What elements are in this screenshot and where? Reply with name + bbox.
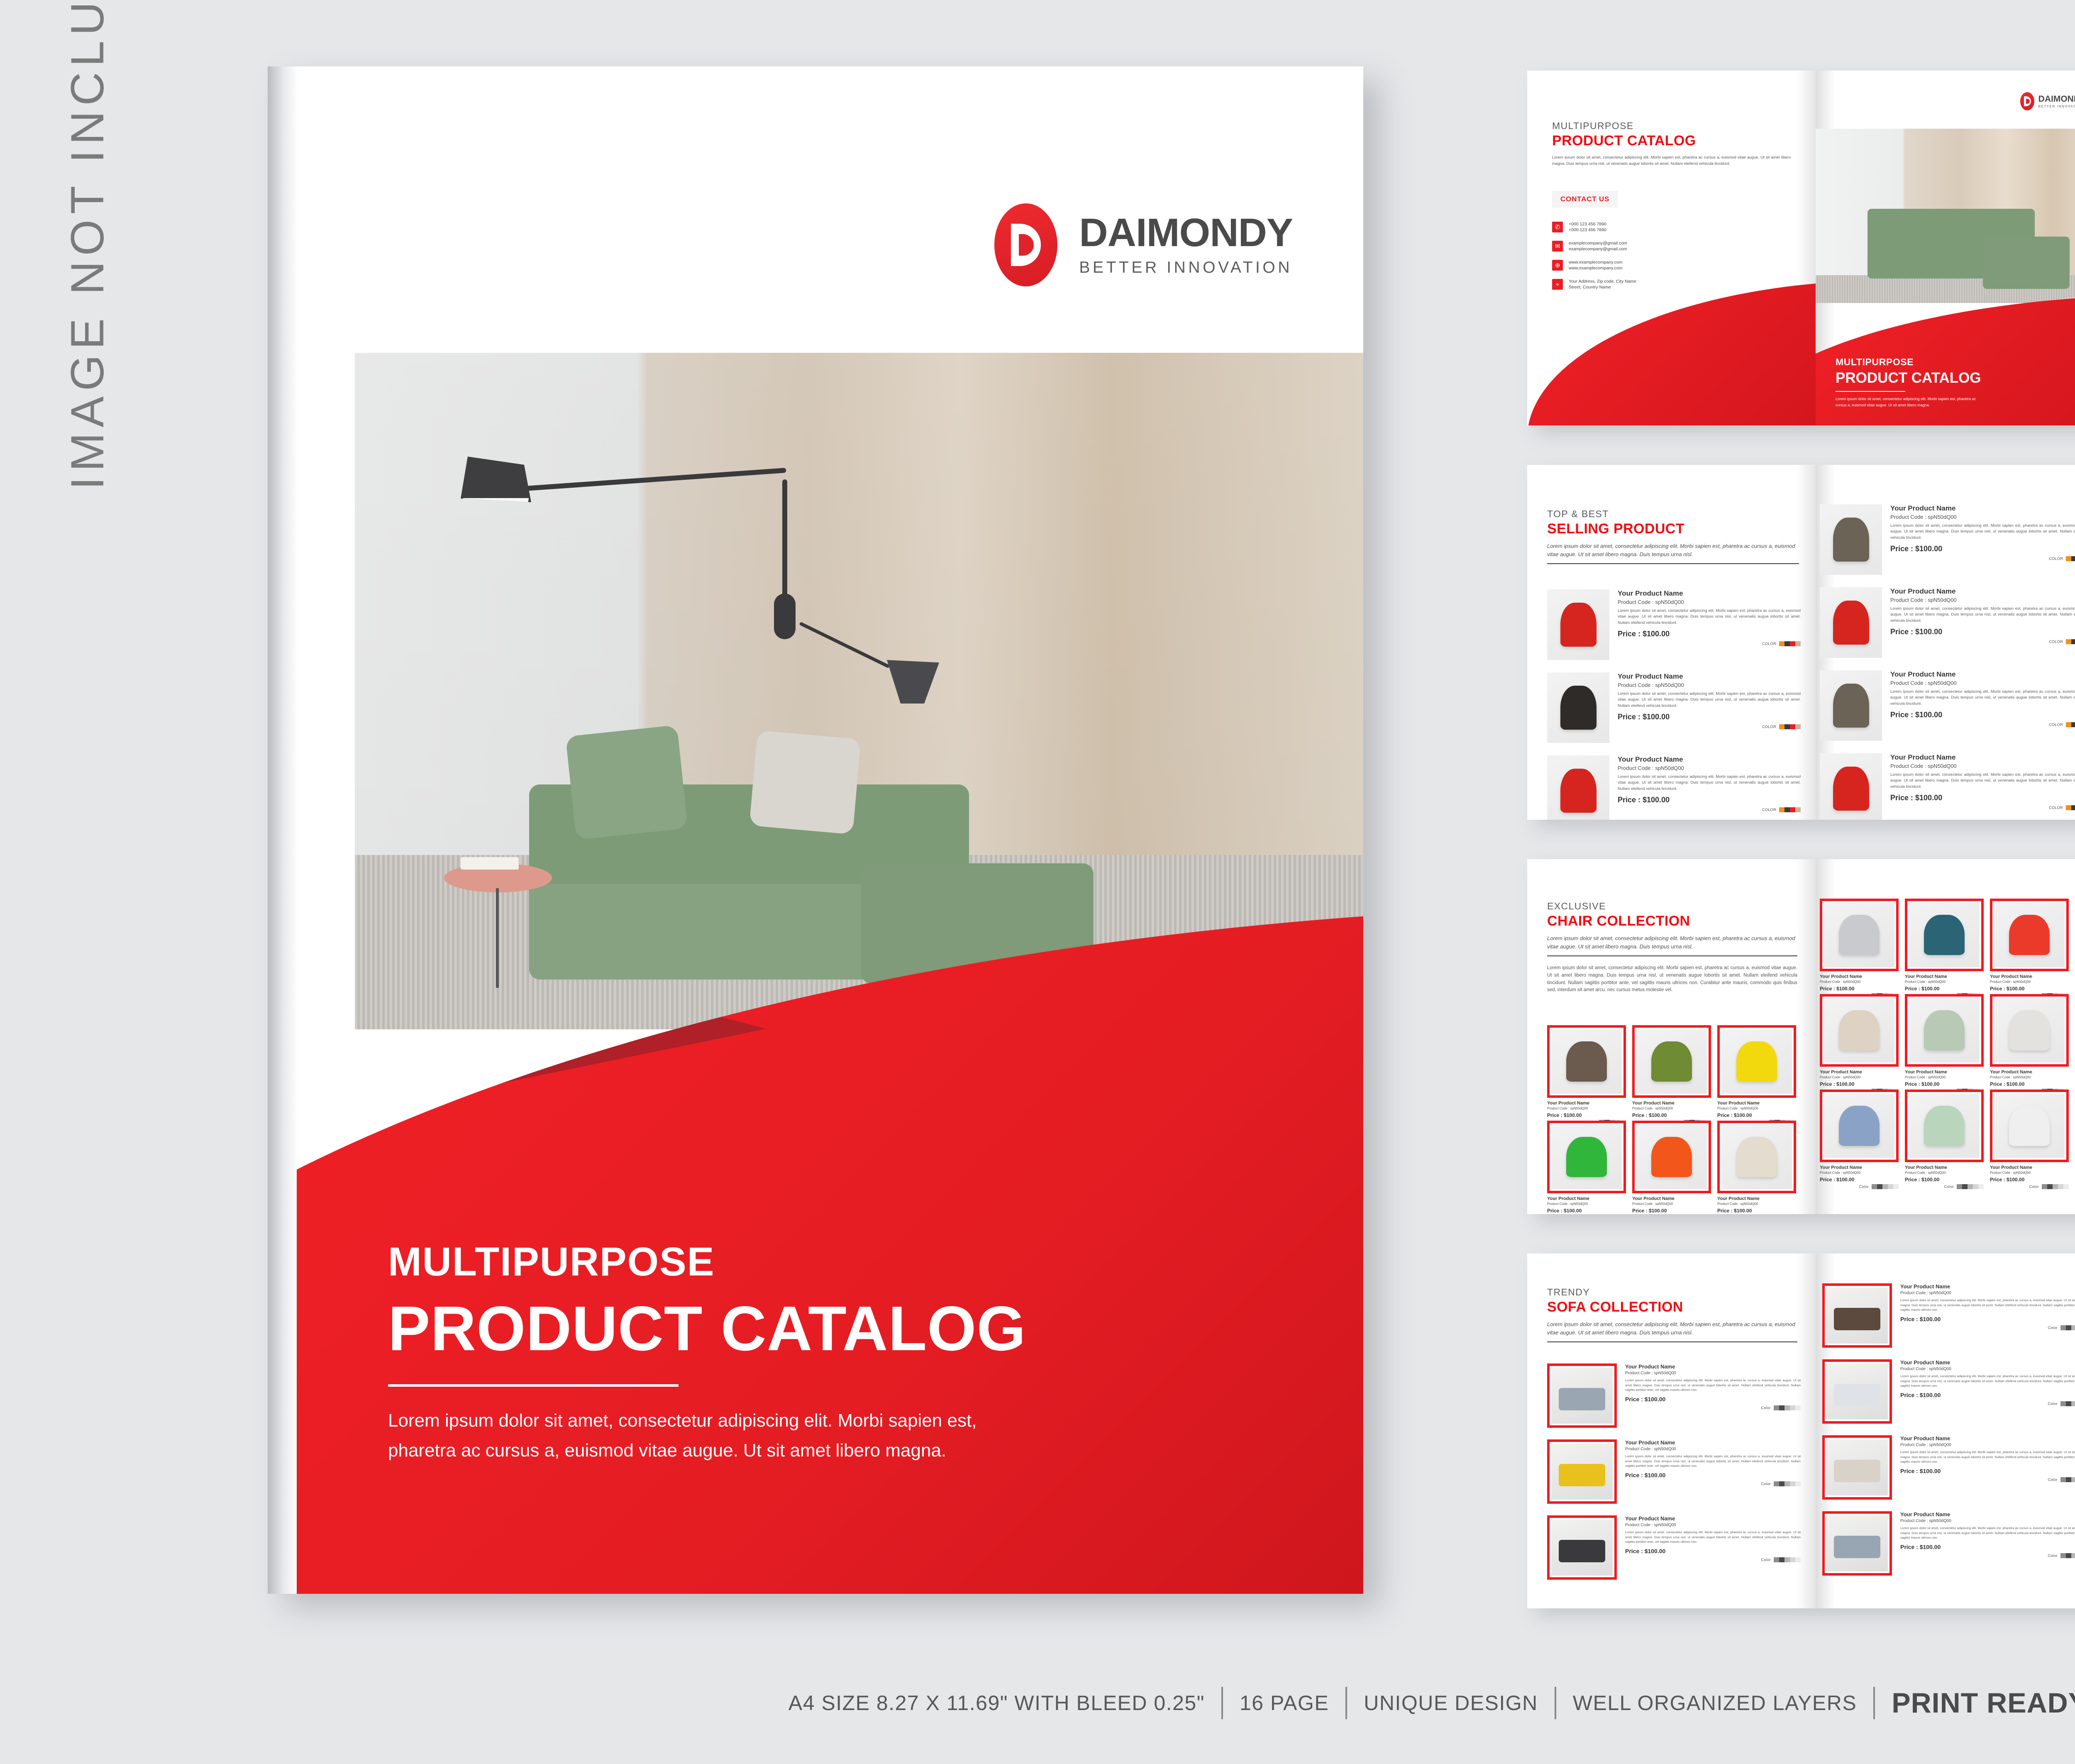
- color-swatch-row: COLOR: [1618, 807, 1801, 812]
- product-shape: [1994, 903, 2065, 967]
- image-not-included-label: IMAGE NOT INCLUDED: [50, 0, 124, 490]
- product-photo: [1822, 1359, 1892, 1424]
- product-meta: Your Product NameProduct Code : spN50dQ0…: [1905, 1165, 1984, 1189]
- color-swatch[interactable]: [1968, 1184, 1973, 1189]
- color-swatch-row: Color: [1900, 1325, 2075, 1330]
- color-label: COLOR: [1762, 725, 1776, 729]
- section-title: CHAIR COLLECTION: [1547, 913, 1797, 929]
- color-swatch[interactable]: [1882, 1184, 1888, 1189]
- logo-text: DAIMONDYBETTER INNOVATION: [2038, 95, 2075, 108]
- product-photo: [1990, 899, 2069, 971]
- product-row: Your Product NameProduct Code : spN50dQ0…: [1547, 589, 1801, 660]
- product-description: Lorem ipsum dolor sit amet, consectetur …: [1618, 691, 1801, 709]
- product-description: Lorem ipsum dolor sit amet, consectetur …: [1625, 1454, 1801, 1468]
- color-swatch-row: COLOR: [1890, 805, 2075, 810]
- color-label: COLOR: [2049, 723, 2063, 727]
- color-swatch[interactable]: [2066, 1401, 2071, 1406]
- color-swatches: [2066, 805, 2075, 810]
- photo-placeholder: [1826, 1439, 1888, 1495]
- page-title: PRODUCT CATALOG: [388, 1295, 1143, 1363]
- page-right[interactable]: Your Product NameProduct Code : spN50dQ0…: [1816, 465, 2075, 820]
- color-label: Color: [1761, 1406, 1771, 1410]
- color-swatch[interactable]: [1790, 641, 1795, 646]
- color-label: Color: [2048, 1554, 2058, 1558]
- spread-chair-collection[interactable]: EXCLUSIVECHAIR COLLECTIONLorem ipsum dol…: [1527, 859, 2075, 1214]
- product-card: Your Product NameProduct Code : spN50dQ0…: [1990, 994, 2069, 1094]
- color-swatch[interactable]: [1795, 724, 1801, 729]
- product-name: Your Product Name: [1900, 1435, 2075, 1441]
- product-price: Price : $100.00: [1547, 1208, 1626, 1214]
- product-description: Lorem ipsum dolor sit amet, consectetur …: [1890, 523, 2075, 541]
- color-swatch[interactable]: [2071, 1553, 2075, 1558]
- product-price: Price : $100.00: [1890, 711, 2075, 719]
- color-label: Color: [2048, 1402, 2058, 1406]
- product-price: Price : $100.00: [1890, 545, 2075, 553]
- product-code: Product Code : spN50dQ00: [1900, 1367, 2075, 1371]
- contact-text: examplecompany@gmail.comexamplecompany@g…: [1569, 241, 1627, 252]
- color-swatch[interactable]: [1784, 724, 1790, 729]
- photo-placeholder: [1994, 903, 2065, 967]
- product-name: Your Product Name: [1625, 1363, 1801, 1370]
- color-swatch[interactable]: [1779, 641, 1784, 646]
- product-photo: [1820, 994, 1899, 1067]
- color-swatch[interactable]: [2042, 1184, 2047, 1189]
- product-card: Your Product NameProduct Code : spN50dQ0…: [1905, 1090, 1984, 1189]
- product-photo: [1822, 1511, 1892, 1576]
- cover-subtitle: Lorem ipsum dolor sit amet, consectetur …: [1836, 396, 1985, 408]
- color-label: Color: [1944, 1185, 1954, 1189]
- color-swatch[interactable]: [2071, 1477, 2075, 1482]
- photo-placeholder: [1636, 1029, 1707, 1094]
- color-swatches: [1779, 724, 1801, 729]
- color-swatch[interactable]: [2066, 722, 2071, 727]
- section-kicker: TRENDY: [1547, 1287, 1797, 1298]
- color-swatches: [1779, 641, 1801, 646]
- section-header: TRENDYSOFA COLLECTIONLorem ipsum dolor s…: [1547, 1287, 1797, 1342]
- product-code: Product Code : spN50dQ00: [1900, 1443, 2075, 1447]
- color-swatch[interactable]: [2071, 722, 2075, 727]
- page-title: PRODUCT CATALOG: [1836, 370, 2075, 386]
- section-kicker: TOP & BEST: [1547, 508, 1799, 520]
- product-row: Your Product NameProduct Code : spN50dQ0…: [1822, 1283, 2075, 1348]
- location-pin-icon: ⌖: [1552, 279, 1563, 290]
- photo-placeholder: [1551, 1029, 1622, 1094]
- color-swatches: [1872, 1184, 1899, 1189]
- contact-row: ✆+000 123 456 7890+000 123 456 7890: [1552, 222, 1791, 232]
- color-swatch[interactable]: [2047, 1184, 2053, 1189]
- product-photo: [1547, 1121, 1626, 1193]
- product-shape: [1824, 998, 1894, 1063]
- product-row: Your Product NameProduct Code : spN50dQ0…: [1547, 672, 1801, 743]
- product-description: Lorem ipsum dolor sit amet, consectetur …: [1900, 1374, 2075, 1388]
- product-photo: [1820, 670, 1882, 741]
- product-code: Product Code : spN50dQ00: [1990, 1075, 2069, 1079]
- color-swatch[interactable]: [1877, 1184, 1882, 1189]
- product-price: Price : $100.00: [1820, 1081, 1899, 1087]
- contact-line-2: www.examplecompany.com: [1569, 266, 1622, 271]
- color-swatch[interactable]: [1872, 1184, 1877, 1189]
- color-swatch[interactable]: [2053, 1184, 2058, 1189]
- product-code: Product Code : spN50dQ00: [1905, 980, 1984, 984]
- footer-highlight: PRINT READY FILE: [1875, 1687, 2075, 1719]
- product-meta: Your Product NameProduct Code : spN50dQ0…: [1900, 1283, 2075, 1348]
- cover-hero-photo: [355, 353, 1363, 1029]
- contact-line-2: Street, Country Name: [1569, 285, 1636, 290]
- color-swatch[interactable]: [2066, 1553, 2071, 1558]
- color-swatch[interactable]: [2060, 1401, 2066, 1406]
- brand-name: DAIMONDY: [1079, 213, 1293, 253]
- color-swatches: [1957, 1184, 1984, 1189]
- product-code: Product Code : spN50dQ00: [1618, 765, 1801, 771]
- cover-spine: [268, 66, 297, 1594]
- color-swatches: [2066, 722, 2075, 727]
- contact-text: www.examplecompany.comwww.examplecompany…: [1569, 260, 1622, 271]
- color-swatch[interactable]: [1784, 1557, 1790, 1562]
- color-swatch-row: Color: [1625, 1481, 1801, 1486]
- spread-selling-product[interactable]: TOP & BESTSELLING PRODUCTLorem ipsum dol…: [1527, 465, 2075, 820]
- product-shape: [1551, 1029, 1622, 1094]
- color-swatch[interactable]: [2071, 639, 2075, 644]
- product-name: Your Product Name: [1905, 974, 1984, 979]
- product-photo: [1905, 899, 1984, 971]
- poster-canvas: IMAGE NOT INCLUDED DAIMONDY BETTER INNOV…: [0, 0, 2075, 1764]
- product-code: Product Code : spN50dQ00: [1618, 682, 1801, 688]
- color-swatches: [1774, 1481, 1801, 1486]
- product-shape: [1551, 1125, 1622, 1189]
- product-price: Price : $100.00: [1990, 986, 2069, 992]
- contact-line-1: www.examplecompany.com: [1569, 260, 1622, 265]
- product-price: Price : $100.00: [1632, 1208, 1711, 1214]
- product-price: Price : $100.00: [1618, 713, 1801, 721]
- page-left[interactable]: MULTIPURPOSEPRODUCT CATALOGLorem ipsum d…: [1527, 71, 1816, 425]
- product-meta: Your Product NameProduct Code : spN50dQ0…: [1890, 753, 2075, 810]
- contact-page-content: MULTIPURPOSEPRODUCT CATALOGLorem ipsum d…: [1552, 120, 1791, 290]
- product-meta: Your Product NameProduct Code : spN50dQ0…: [1900, 1435, 2075, 1500]
- color-swatch[interactable]: [2066, 556, 2071, 561]
- color-swatch[interactable]: [1795, 1557, 1801, 1562]
- color-swatch[interactable]: [1779, 1405, 1784, 1410]
- color-swatch[interactable]: [2066, 639, 2071, 644]
- footer-item-0: A4 SIZE 8.27 X 11.69" WITH BLEED 0.25": [772, 1691, 1221, 1715]
- contact-row: ⌖Your Address, Zip code, City NameStreet…: [1552, 279, 1791, 290]
- product-name: Your Product Name: [1900, 1283, 2075, 1290]
- product-photo: [1820, 899, 1899, 971]
- color-swatch[interactable]: [1790, 1557, 1795, 1562]
- photo-placeholder: [1551, 1125, 1622, 1189]
- section-title: PRODUCT CATALOG: [1552, 133, 1791, 149]
- logo-d-icon: [994, 203, 1057, 286]
- product-photo: [1905, 1090, 1984, 1162]
- page-right[interactable]: Your Product NameProduct Code : spN50dQ0…: [1816, 1253, 2075, 1608]
- product-price: Price : $100.00: [1618, 796, 1801, 804]
- product-card: Your Product NameProduct Code : spN50dQ0…: [1547, 1121, 1626, 1214]
- color-swatch[interactable]: [2066, 1325, 2071, 1330]
- page-left[interactable]: TOP & BESTSELLING PRODUCTLorem ipsum dol…: [1527, 465, 1816, 820]
- color-label: Color: [1859, 1185, 1869, 1189]
- product-code: Product Code : spN50dQ00: [1900, 1519, 2075, 1523]
- product-meta: Your Product NameProduct Code : spN50dQ0…: [1900, 1511, 2075, 1576]
- cover-divider: [388, 1384, 679, 1387]
- page-right[interactable]: Your Product NameProduct Code : spN50dQ0…: [1816, 859, 2075, 1214]
- color-swatch[interactable]: [2071, 1401, 2075, 1406]
- product-description: Lorem ipsum dolor sit amet, consectetur …: [1618, 608, 1801, 626]
- contact-list: ✆+000 123 456 7890+000 123 456 7890✉exam…: [1552, 222, 1791, 290]
- color-swatch[interactable]: [2066, 1477, 2071, 1482]
- spread-cover-contact[interactable]: MULTIPURPOSEPRODUCT CATALOGLorem ipsum d…: [1527, 71, 2075, 425]
- product-code: Product Code : spN50dQ00: [1820, 1171, 1899, 1175]
- color-swatch[interactable]: [2060, 1553, 2066, 1558]
- product-row: Your Product NameProduct Code : spN50dQ0…: [1820, 670, 2075, 741]
- product-code: Product Code : spN50dQ00: [1632, 1107, 1711, 1110]
- section-divider: [1547, 955, 1797, 956]
- product-row: Your Product NameProduct Code : spN50dQ0…: [1547, 1363, 1801, 1428]
- product-price: Price : $100.00: [1717, 1112, 1796, 1118]
- cover-page: DAIMONDY BETTER INNOVATION: [268, 66, 1363, 1594]
- product-row: Your Product NameProduct Code : spN50dQ0…: [1547, 1515, 1801, 1580]
- color-label: COLOR: [2049, 640, 2063, 644]
- color-swatch[interactable]: [1784, 1405, 1790, 1410]
- section-body: Lorem ipsum dolor sit amet, consectetur …: [1547, 965, 1797, 994]
- color-label: Color: [2048, 1478, 2058, 1482]
- cover-subtitle: Lorem ipsum dolor sit amet, consectetur …: [388, 1406, 1035, 1465]
- spread-thumbnail-grid: MULTIPURPOSEPRODUCT CATALOGLorem ipsum d…: [1527, 71, 2075, 1619]
- photo-placeholder: [1551, 1444, 1613, 1500]
- contact-line-1: Your Address, Zip code, City Name: [1569, 279, 1636, 284]
- color-swatch[interactable]: [1795, 641, 1801, 646]
- brand-tagline: BETTER INNOVATION: [1079, 259, 1293, 277]
- page-right[interactable]: DAIMONDYBETTER INNOVATIONMULTIPURPOSEPRO…: [1816, 71, 2075, 425]
- product-photo: [1547, 755, 1609, 820]
- footer-item-1: 16 PAGE: [1223, 1691, 1345, 1715]
- product-shape: [1994, 1094, 2065, 1158]
- page-content: TRENDYSOFA COLLECTIONLorem ipsum dolor s…: [1547, 1287, 1797, 1342]
- cover-divider: [1836, 391, 1905, 392]
- color-label: Color: [2029, 1185, 2039, 1189]
- product-code: Product Code : spN50dQ00: [1820, 1075, 1899, 1079]
- color-swatch[interactable]: [1774, 1481, 1779, 1486]
- color-swatches: [2060, 1553, 2075, 1558]
- product-code: Product Code : spN50dQ00: [1890, 597, 2075, 603]
- product-photo: [1990, 994, 2069, 1067]
- product-name: Your Product Name: [1618, 672, 1801, 681]
- color-swatch[interactable]: [1774, 1405, 1779, 1410]
- cover-kicker: MULTIPURPOSE: [388, 1241, 1143, 1283]
- product-name: Your Product Name: [1905, 1070, 1984, 1075]
- color-swatches: [2066, 639, 2075, 644]
- color-swatch[interactable]: [2060, 1325, 2066, 1330]
- color-label: Color: [2048, 1326, 2058, 1330]
- color-swatch[interactable]: [2071, 556, 2075, 561]
- product-row: Your Product NameProduct Code : spN50dQ0…: [1547, 1439, 1801, 1504]
- cover-left-intro: Lorem ipsum dolor sit amet, consectetur …: [1552, 155, 1791, 167]
- product-price: Price : $100.00: [1890, 794, 2075, 802]
- color-label: Color: [1761, 1482, 1771, 1486]
- product-card: Your Product NameProduct Code : spN50dQ0…: [1990, 899, 2069, 998]
- product-card: Your Product NameProduct Code : spN50dQ0…: [1717, 1025, 1796, 1125]
- color-swatch[interactable]: [1790, 807, 1795, 812]
- photo-placeholder: [1826, 1288, 1888, 1344]
- color-swatch[interactable]: [1779, 807, 1784, 812]
- product-name: Your Product Name: [1990, 974, 2069, 979]
- color-swatch[interactable]: [2071, 805, 2075, 810]
- color-swatch[interactable]: [1784, 807, 1790, 812]
- product-photo: [1547, 589, 1609, 660]
- contact-line-2: examplecompany@gmail.com: [1569, 247, 1627, 252]
- product-code: Product Code : spN50dQ00: [1990, 1171, 2069, 1175]
- color-swatch[interactable]: [1790, 724, 1795, 729]
- product-row: Your Product NameProduct Code : spN50dQ0…: [1820, 504, 2075, 575]
- product-shape: [1824, 903, 1894, 967]
- color-swatch[interactable]: [1774, 1557, 1779, 1562]
- product-price: Price : $100.00: [1717, 1208, 1796, 1214]
- product-name: Your Product Name: [1890, 587, 2075, 596]
- product-code: Product Code : spN50dQ00: [1890, 514, 2075, 520]
- product-shape: [1547, 672, 1609, 743]
- photo-placeholder: [1909, 903, 1980, 967]
- product-shape: [1909, 903, 1980, 967]
- product-shape: [1721, 1029, 1792, 1094]
- product-code: Product Code : spN50dQ00: [1890, 680, 2075, 686]
- color-swatch[interactable]: [1962, 1184, 1968, 1189]
- product-photo: [1547, 1515, 1617, 1580]
- product-description: Lorem ipsum dolor sit amet, consectetur …: [1890, 606, 2075, 624]
- color-swatch[interactable]: [1957, 1184, 1962, 1189]
- color-swatch[interactable]: [1795, 807, 1801, 812]
- product-meta: Your Product NameProduct Code : spN50dQ0…: [1632, 1196, 1711, 1214]
- section-divider: [1547, 1341, 1797, 1342]
- product-shape: [1547, 589, 1609, 660]
- cover-hero-photo: [1816, 129, 2075, 303]
- product-description: Lorem ipsum dolor sit amet, consectetur …: [1618, 774, 1801, 792]
- color-swatch[interactable]: [1790, 1481, 1795, 1486]
- main-cover-mockup: DAIMONDY BETTER INNOVATION: [268, 66, 1363, 1594]
- product-code: Product Code : spN50dQ00: [1900, 1291, 2075, 1295]
- color-swatch[interactable]: [2063, 1184, 2069, 1189]
- product-name: Your Product Name: [1717, 1196, 1796, 1201]
- color-swatch-row: COLOR: [1890, 722, 2075, 727]
- product-shape: [1994, 998, 2065, 1063]
- color-swatch[interactable]: [1790, 1405, 1795, 1410]
- color-swatch[interactable]: [1893, 1184, 1899, 1189]
- contact-us-heading: CONTACT US: [1552, 191, 1618, 208]
- page-left[interactable]: EXCLUSIVECHAIR COLLECTIONLorem ipsum dol…: [1527, 859, 1816, 1214]
- product-photo: [1547, 672, 1609, 743]
- color-swatch[interactable]: [2066, 805, 2071, 810]
- product-name: Your Product Name: [1632, 1101, 1711, 1106]
- section-title: SOFA COLLECTION: [1547, 1299, 1797, 1315]
- product-name: Your Product Name: [1820, 1165, 1899, 1170]
- product-card: Your Product NameProduct Code : spN50dQ0…: [1820, 994, 1899, 1094]
- product-description: Lorem ipsum dolor sit amet, consectetur …: [1625, 1530, 1801, 1544]
- product-code: Product Code : spN50dQ00: [1717, 1202, 1796, 1206]
- product-code: Product Code : spN50dQ00: [1890, 763, 2075, 769]
- color-swatch[interactable]: [2058, 1184, 2063, 1189]
- product-price: Price : $100.00: [1905, 1081, 1984, 1087]
- product-photo: [1820, 1090, 1899, 1162]
- product-card: Your Product NameProduct Code : spN50dQ0…: [1717, 1121, 1796, 1214]
- photo-placeholder: [1820, 670, 1882, 741]
- product-shape: [1636, 1125, 1707, 1189]
- product-meta: Your Product NameProduct Code : spN50dQ0…: [1547, 1196, 1626, 1214]
- photo-placeholder: [1824, 998, 1894, 1063]
- product-shape: [1820, 504, 1882, 575]
- product-photo: [1717, 1121, 1796, 1193]
- product-meta: Your Product NameProduct Code : spN50dQ0…: [1618, 589, 1801, 646]
- product-name: Your Product Name: [1618, 755, 1801, 764]
- cover-title-block: MULTIPURPOSEPRODUCT CATALOGLorem ipsum d…: [1836, 357, 2075, 408]
- photo-placeholder: [1820, 504, 1882, 575]
- color-swatches: [1779, 807, 1801, 812]
- gutter-shadow: [1797, 859, 1816, 1214]
- photo-placeholder: [1636, 1125, 1707, 1189]
- color-swatch[interactable]: [1978, 1184, 1984, 1189]
- product-code: Product Code : spN50dQ00: [1632, 1202, 1711, 1206]
- product-row: Your Product NameProduct Code : spN50dQ0…: [1820, 753, 2075, 820]
- product-name: Your Product Name: [1990, 1165, 2069, 1170]
- cover-kicker: MULTIPURPOSE: [1836, 357, 2075, 368]
- footer-item-3: WELL ORGANIZED LAYERS: [1556, 1691, 1873, 1715]
- product-code: Product Code : spN50dQ00: [1905, 1075, 1984, 1079]
- product-code: Product Code : spN50dQ00: [1905, 1171, 1984, 1175]
- product-name: Your Product Name: [1890, 504, 2075, 513]
- photo-placeholder: [1826, 1363, 1888, 1420]
- product-name: Your Product Name: [1625, 1439, 1801, 1446]
- spread-trendy-sofa[interactable]: TRENDYSOFA COLLECTIONLorem ipsum dolor s…: [1527, 1253, 2075, 1608]
- product-name: Your Product Name: [1547, 1101, 1626, 1106]
- brand-tagline: BETTER INNOVATION: [2038, 105, 2075, 108]
- color-swatch[interactable]: [1779, 1481, 1784, 1486]
- product-shape: [1824, 1094, 1894, 1158]
- product-price: Price : $100.00: [1900, 1544, 2075, 1550]
- color-swatch-row: COLOR: [1890, 639, 2075, 644]
- product-code: Product Code : spN50dQ00: [1618, 599, 1801, 605]
- color-swatch[interactable]: [1795, 1481, 1801, 1486]
- footer-item-2: UNIQUE DESIGN: [1347, 1691, 1555, 1715]
- spec-footer-bar: A4 SIZE 8.27 X 11.69" WITH BLEED 0.25"16…: [0, 1642, 2075, 1764]
- product-name: Your Product Name: [1905, 1165, 1984, 1170]
- page-content: EXCLUSIVECHAIR COLLECTIONLorem ipsum dol…: [1547, 901, 1797, 994]
- product-price: Price : $100.00: [1625, 1396, 1801, 1402]
- photo-placeholder: [1820, 753, 1882, 820]
- product-meta: Your Product NameProduct Code : spN50dQ0…: [1618, 672, 1801, 729]
- photo-placeholder: [1909, 1094, 1980, 1158]
- color-swatch[interactable]: [1784, 641, 1790, 646]
- color-swatch[interactable]: [2071, 1325, 2075, 1330]
- color-swatch[interactable]: [1779, 724, 1784, 729]
- color-swatch[interactable]: [1784, 1481, 1790, 1486]
- color-swatch[interactable]: [2060, 1477, 2066, 1482]
- color-swatch[interactable]: [1795, 1405, 1801, 1410]
- brand-logo: DAIMONDY BETTER INNOVATION: [994, 203, 1293, 286]
- product-shape: [1636, 1029, 1707, 1094]
- contact-line-1: examplecompany@gmail.com: [1569, 241, 1627, 246]
- page-left[interactable]: TRENDYSOFA COLLECTIONLorem ipsum dolor s…: [1527, 1253, 1816, 1608]
- photo-placeholder: [1994, 998, 2065, 1063]
- color-swatch-row: COLOR: [1890, 556, 2075, 561]
- product-photo: [1990, 1090, 2069, 1162]
- product-shape: [1909, 1094, 1980, 1158]
- color-swatch[interactable]: [1779, 1557, 1784, 1562]
- photo-placeholder: [1826, 1515, 1888, 1571]
- product-card: Your Product NameProduct Code : spN50dQ0…: [1820, 899, 1899, 998]
- contact-row: ✉examplecompany@gmail.comexamplecompany@…: [1552, 241, 1791, 252]
- color-swatch[interactable]: [1888, 1184, 1893, 1189]
- color-swatch[interactable]: [1973, 1184, 1978, 1189]
- contact-row: ⊕www.examplecompany.comwww.examplecompan…: [1552, 260, 1791, 271]
- phone-icon: ✆: [1552, 222, 1563, 232]
- product-price: Price : $100.00: [1820, 986, 1899, 992]
- photo-placeholder: [1551, 1520, 1613, 1576]
